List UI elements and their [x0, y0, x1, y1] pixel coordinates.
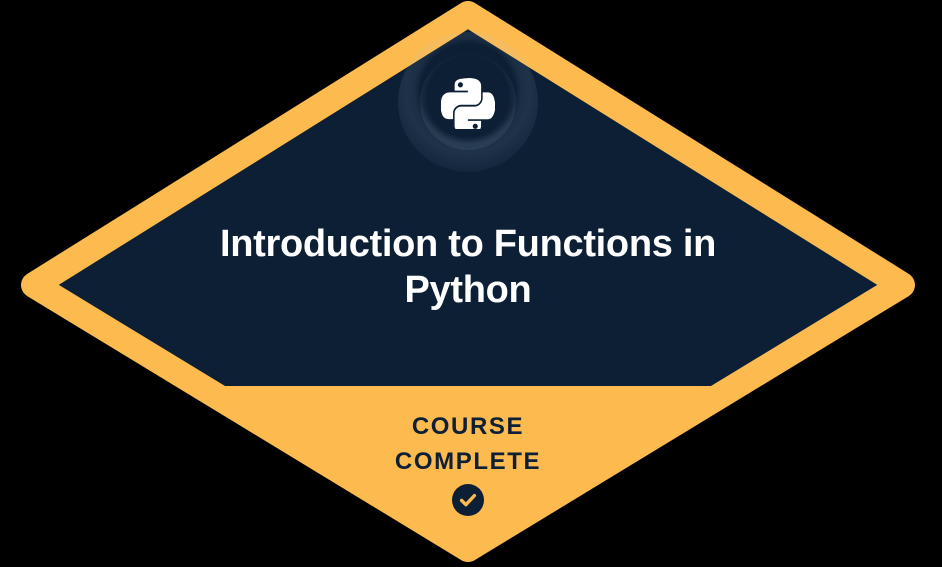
- badge-logo-emblem: [398, 32, 538, 172]
- checkmark-glyph: [462, 496, 475, 505]
- course-title: Introduction to Functions in Python: [141, 221, 795, 313]
- course-completion-badge: Introduction to Functions in Python COUR…: [0, 0, 942, 567]
- check-circle-icon: [452, 484, 484, 516]
- python-logo: [441, 75, 495, 129]
- completion-status-label: COURSE COMPLETE: [241, 409, 695, 479]
